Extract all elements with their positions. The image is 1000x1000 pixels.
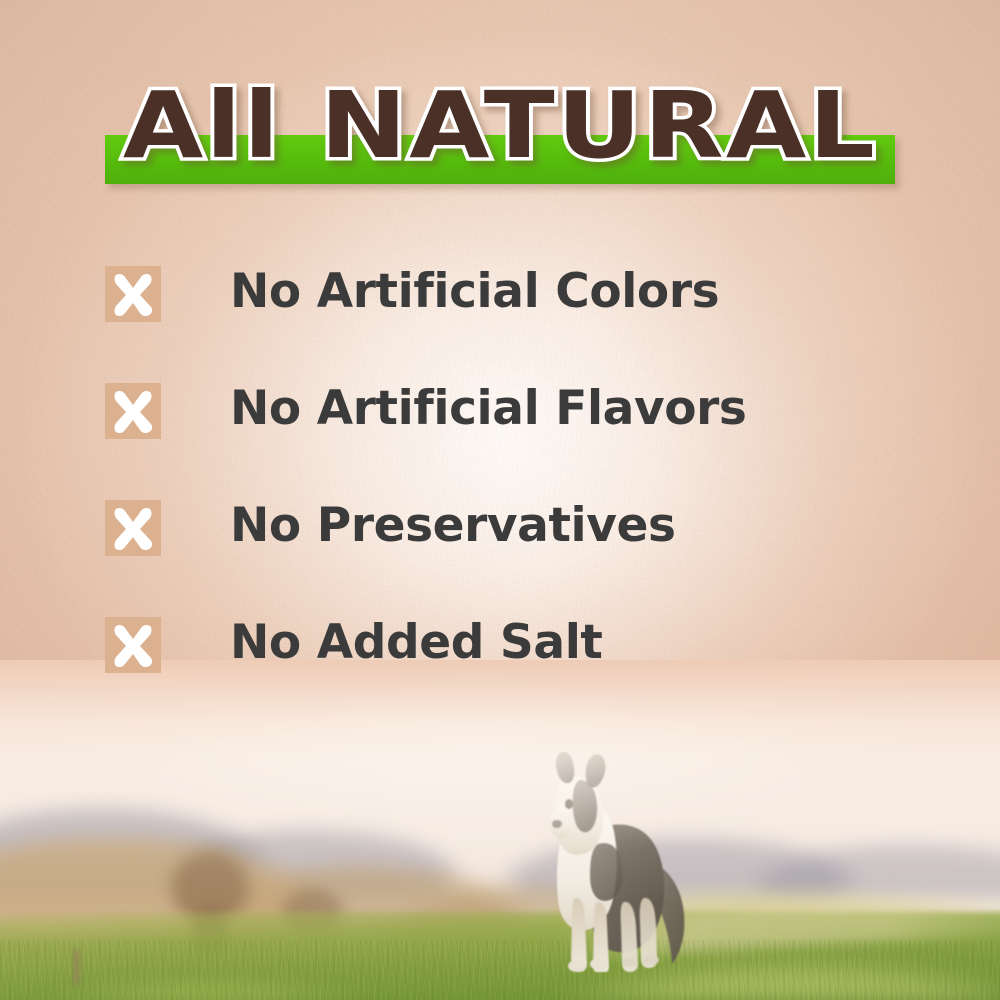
border-collie-dog <box>520 752 710 972</box>
x-mark-icon <box>105 383 161 439</box>
headline-block: All NATURAL <box>0 78 1000 190</box>
list-item: No Added Salt <box>105 613 905 730</box>
grass-texture <box>0 940 1000 1000</box>
x-mark-icon <box>105 266 161 322</box>
claim-label: No Added Salt <box>230 609 602 677</box>
claim-label: No Preservatives <box>230 492 676 560</box>
list-item: No Artificial Flavors <box>105 379 905 496</box>
x-mark-icon <box>105 500 161 556</box>
claims-list: No Artificial Colors No Artificial Flavo… <box>105 262 905 730</box>
fence-post <box>73 950 80 984</box>
page-title: All NATURAL <box>0 78 1000 174</box>
claim-label: No Artificial Colors <box>230 258 719 326</box>
claim-label: No Artificial Flavors <box>230 375 746 443</box>
list-item: No Preservatives <box>105 496 905 613</box>
list-item: No Artificial Colors <box>105 262 905 379</box>
x-mark-icon <box>105 617 161 673</box>
all-natural-product-poster: All NATURAL No Artificial Colors No Arti… <box>0 0 1000 1000</box>
